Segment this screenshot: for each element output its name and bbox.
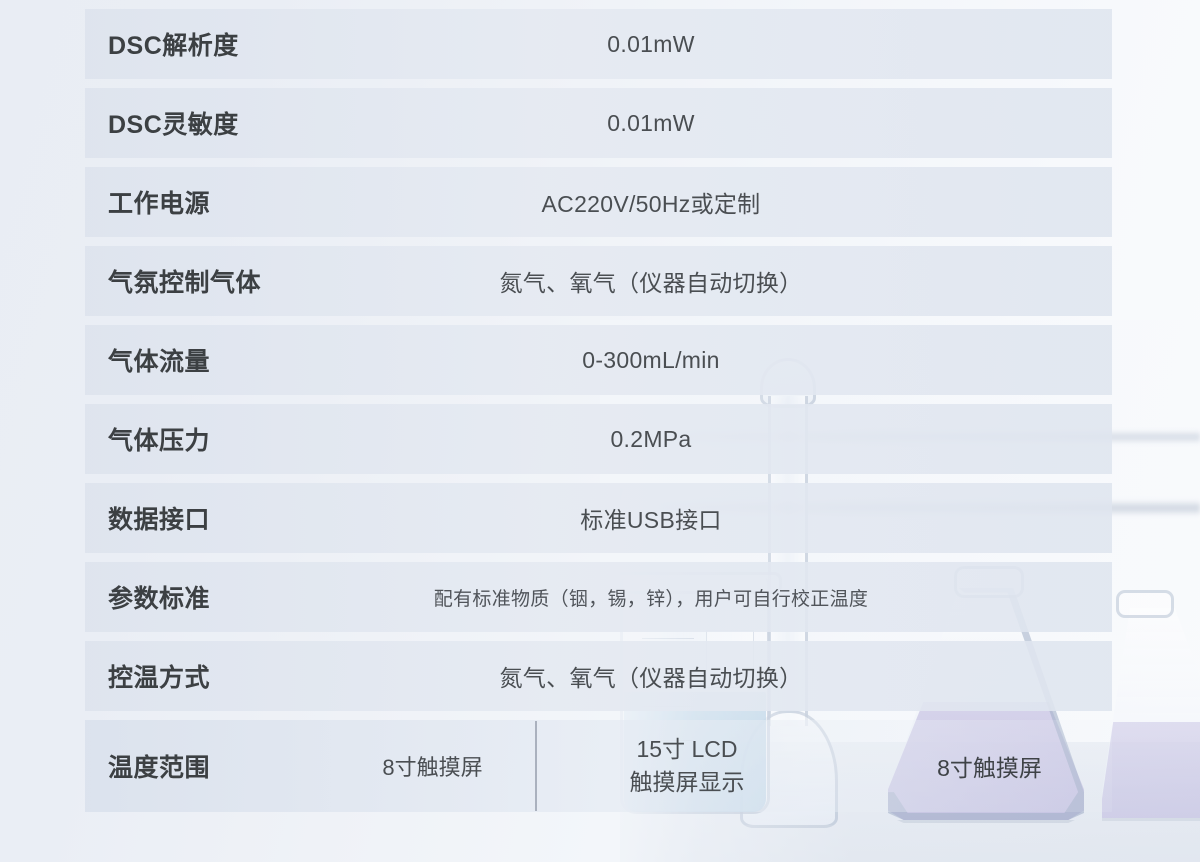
secondary-flask-liquid [1102, 722, 1200, 818]
spec-value: 标准USB接口 [330, 501, 1112, 535]
secondary-flask-cone [1102, 608, 1200, 821]
spec-label: DSC灵敏度 [85, 105, 330, 141]
spec-label: 气氛控制气体 [85, 263, 330, 299]
spec-label: 温度范围 [85, 748, 330, 784]
spec-label: 数据接口 [85, 500, 330, 536]
spec-label: 工作电源 [85, 184, 330, 220]
specification-table: DSC解析度 0.01mW DSC灵敏度 0.01mW 工作电源 AC220V/… [85, 9, 1112, 821]
spec-value: AC220V/50Hz或定制 [330, 185, 1112, 219]
table-row: 数据接口 标准USB接口 [85, 483, 1112, 553]
spec-label: 气体压力 [85, 421, 330, 457]
display-option-c: 8寸触摸屏 [837, 749, 1112, 783]
spec-label: 气体流量 [85, 342, 330, 378]
display-option-b-line2: 触摸屏显示 [537, 766, 837, 799]
table-row-temperature-range: 温度范围 8寸触摸屏 15寸 LCD 触摸屏显示 8寸触摸屏 [85, 720, 1112, 812]
display-option-a: 8寸触摸屏 [330, 750, 535, 782]
table-row: 控温方式 氮气、氧气（仪器自动切换） [85, 641, 1112, 711]
table-row: 参数标准 配有标准物质（铟，锡，锌），用户可自行校正温度 [85, 562, 1112, 632]
spec-label: 参数标准 [85, 579, 330, 615]
table-row: DSC解析度 0.01mW [85, 9, 1112, 79]
secondary-flask-rim [1116, 590, 1174, 618]
display-option-b: 15寸 LCD 触摸屏显示 [537, 733, 837, 798]
spec-label: 控温方式 [85, 658, 330, 694]
page-canvas: DSC解析度 0.01mW DSC灵敏度 0.01mW 工作电源 AC220V/… [0, 0, 1200, 862]
spec-value: 氮气、氧气（仪器自动切换） [330, 264, 1112, 298]
secondary-flask-icon [1102, 608, 1200, 818]
table-row: 工作电源 AC220V/50Hz或定制 [85, 167, 1112, 237]
table-row: 气氛控制气体 氮气、氧气（仪器自动切换） [85, 246, 1112, 316]
table-row: 气体流量 0-300mL/min [85, 325, 1112, 395]
spec-label: DSC解析度 [85, 26, 330, 62]
spec-value: 0.2MPa [330, 426, 1112, 453]
spec-value: 0-300mL/min [330, 347, 1112, 374]
display-option-b-line1: 15寸 LCD [537, 733, 837, 766]
spec-value: 氮气、氧气（仪器自动切换） [330, 659, 1112, 693]
spec-value: 0.01mW [330, 110, 1112, 137]
spec-value: 配有标准物质（铟，锡，锌），用户可自行校正温度 [330, 584, 1112, 611]
spec-value: 0.01mW [330, 31, 1112, 58]
table-row: 气体压力 0.2MPa [85, 404, 1112, 474]
table-row: DSC灵敏度 0.01mW [85, 88, 1112, 158]
